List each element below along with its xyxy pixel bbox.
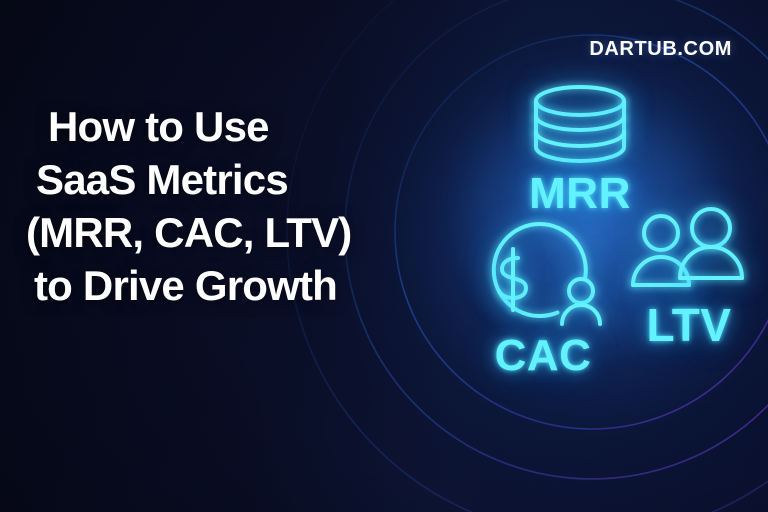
metric-ltv[interactable]: LTV xyxy=(614,206,764,348)
database-cylinder-icon xyxy=(492,84,668,166)
two-people-icon xyxy=(614,206,764,298)
dollar-circle-person-icon xyxy=(458,228,628,332)
metric-mrr[interactable]: MRR xyxy=(492,84,668,216)
metric-cac-label: CAC xyxy=(458,334,628,378)
banner-canvas: DARTUB.COM How to Use SaaS Metrics (MRR,… xyxy=(0,0,768,512)
metric-cac[interactable]: CAC xyxy=(458,228,628,378)
metrics-cluster: MRR CAC xyxy=(0,0,768,512)
metric-ltv-label: LTV xyxy=(614,302,764,348)
